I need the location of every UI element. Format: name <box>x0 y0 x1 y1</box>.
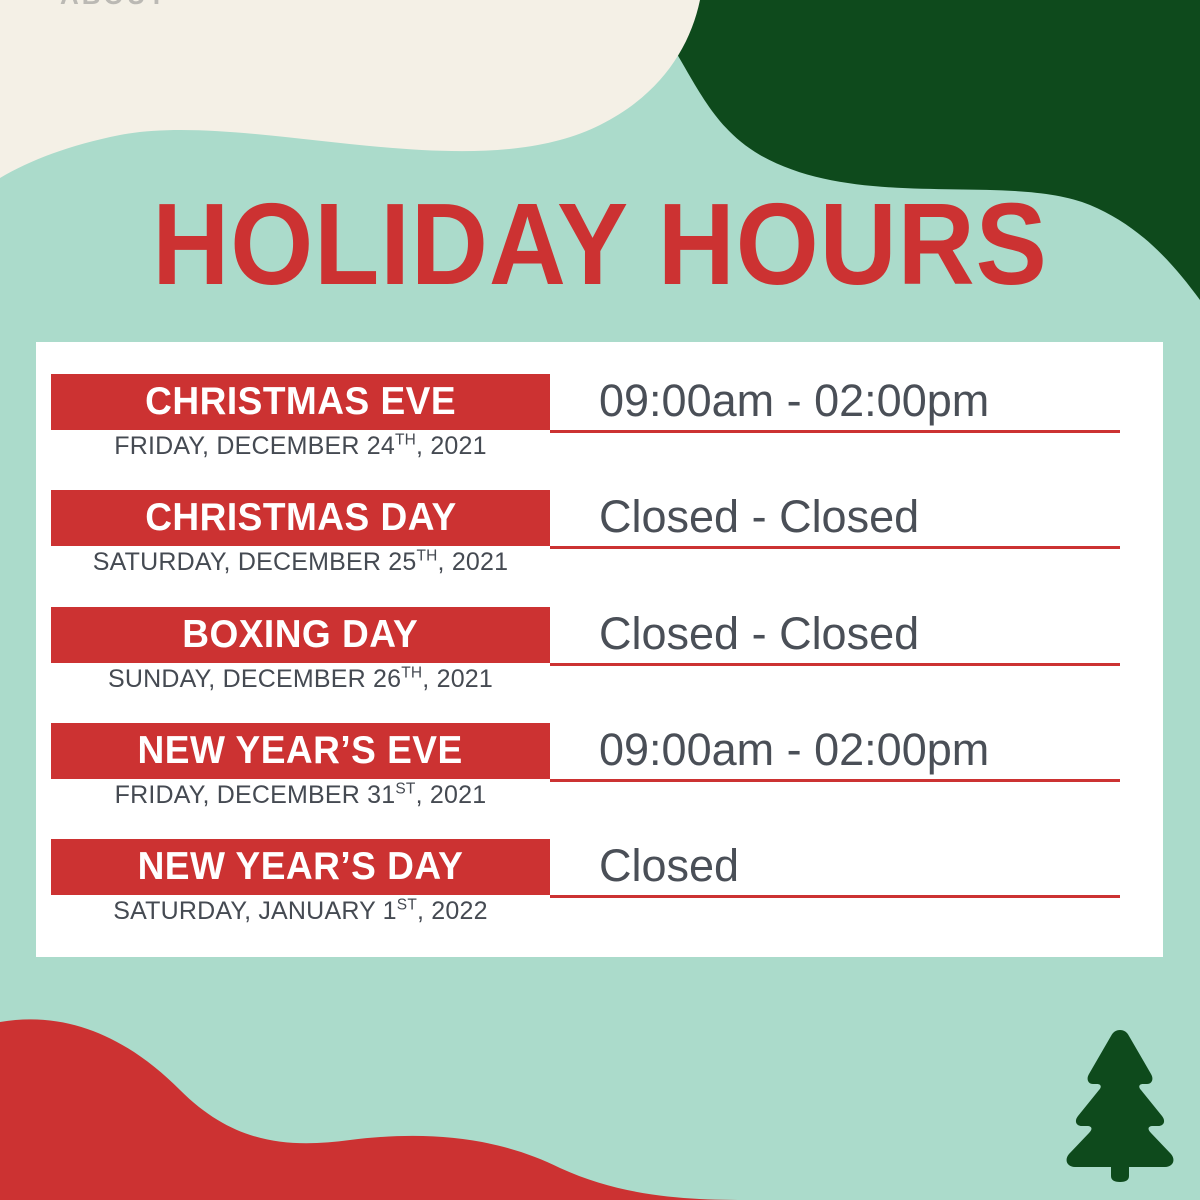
holiday-date-ordinal: ST <box>395 781 415 798</box>
row-underline <box>550 895 1120 898</box>
holiday-date: FRIDAY, DECEMBER 31ST, 2021 <box>51 781 550 810</box>
holiday-date: SATURDAY, DECEMBER 25TH, 2021 <box>51 548 550 577</box>
holiday-date-prefix: SATURDAY, JANUARY 1 <box>113 897 397 925</box>
holiday-hours: Closed - Closed <box>599 603 1159 665</box>
holiday-label-band: BOXING DAY <box>51 607 550 663</box>
schedule-row: NEW YEAR’S DAY SATURDAY, JANUARY 1ST, 20… <box>36 839 1163 956</box>
page-title: HOLIDAY HOURS <box>48 186 1152 302</box>
holiday-date: SUNDAY, DECEMBER 26TH, 2021 <box>51 665 550 694</box>
holiday-date-suffix: , 2021 <box>438 548 509 576</box>
schedule-rows: CHRISTMAS EVE FRIDAY, DECEMBER 24TH, 202… <box>36 342 1163 957</box>
holiday-date: SATURDAY, JANUARY 1ST, 2022 <box>51 897 550 926</box>
holiday-name: NEW YEAR’S EVE <box>138 729 463 773</box>
holiday-name: BOXING DAY <box>182 613 418 657</box>
holiday-hours: 09:00am - 02:00pm <box>599 719 1159 781</box>
holiday-name: CHRISTMAS EVE <box>145 380 456 424</box>
holiday-name: NEW YEAR’S DAY <box>138 845 464 889</box>
holiday-hours: Closed - Closed <box>599 486 1159 548</box>
row-underline <box>550 779 1120 782</box>
schedule-row: BOXING DAY SUNDAY, DECEMBER 26TH, 2021 C… <box>36 607 1163 724</box>
row-underline <box>550 546 1120 549</box>
holiday-date-suffix: , 2022 <box>417 897 488 925</box>
holiday-date-suffix: , 2021 <box>416 781 487 809</box>
holiday-hours: Closed <box>599 835 1159 897</box>
schedule-row: CHRISTMAS EVE FRIDAY, DECEMBER 24TH, 202… <box>36 374 1163 491</box>
holiday-date-ordinal: ST <box>397 897 417 914</box>
row-underline <box>550 430 1120 433</box>
holiday-date-ordinal: TH <box>395 432 416 449</box>
holiday-date-ordinal: TH <box>416 548 437 565</box>
holiday-hours-poster: ABOUT HOLIDAY HOURS CHRISTMAS EVE FRIDAY… <box>0 0 1200 1200</box>
holiday-label-band: CHRISTMAS EVE <box>51 374 550 430</box>
holiday-date-prefix: SATURDAY, DECEMBER 25 <box>93 548 417 576</box>
schedule-row: NEW YEAR’S EVE FRIDAY, DECEMBER 31ST, 20… <box>36 723 1163 840</box>
holiday-name: CHRISTMAS DAY <box>145 496 457 540</box>
holiday-label-band: NEW YEAR’S EVE <box>51 723 550 779</box>
holiday-date: FRIDAY, DECEMBER 24TH, 2021 <box>51 432 550 461</box>
holiday-date-prefix: SUNDAY, DECEMBER 26 <box>108 665 401 693</box>
christmas-tree-icon <box>1055 1024 1185 1184</box>
schedule-card: CHRISTMAS EVE FRIDAY, DECEMBER 24TH, 202… <box>36 342 1163 957</box>
holiday-hours: 09:00am - 02:00pm <box>599 370 1159 432</box>
holiday-label-band: NEW YEAR’S DAY <box>51 839 550 895</box>
holiday-date-suffix: , 2021 <box>416 432 487 460</box>
holiday-date-prefix: FRIDAY, DECEMBER 24 <box>114 432 395 460</box>
holiday-date-ordinal: TH <box>401 665 422 682</box>
row-underline <box>550 663 1120 666</box>
brand-text-cutoff: ABOUT <box>60 0 480 6</box>
schedule-row: CHRISTMAS DAY SATURDAY, DECEMBER 25TH, 2… <box>36 490 1163 607</box>
holiday-date-suffix: , 2021 <box>422 665 493 693</box>
brand-text-label: ABOUT <box>60 0 480 6</box>
holiday-date-prefix: FRIDAY, DECEMBER 31 <box>115 781 396 809</box>
holiday-label-band: CHRISTMAS DAY <box>51 490 550 546</box>
